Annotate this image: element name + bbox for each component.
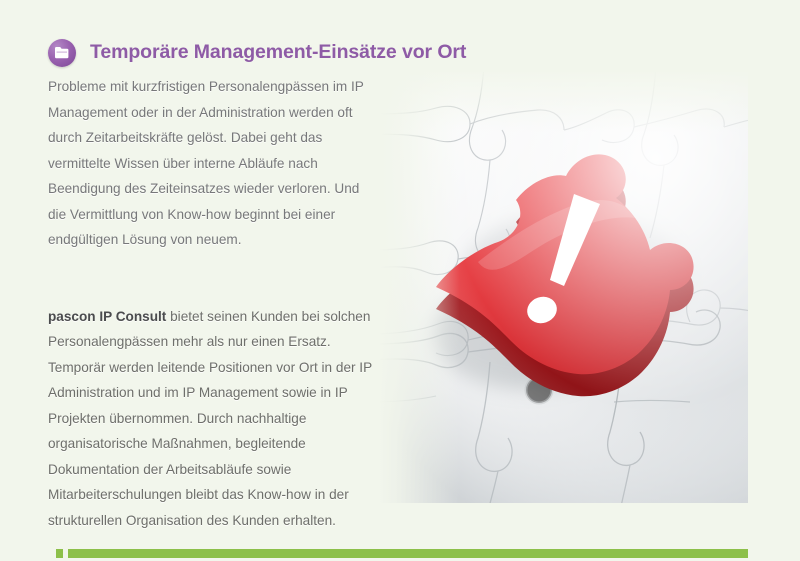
page-root: Temporäre Management-Einsätze vor Ort Pr… (0, 0, 800, 561)
detail-paragraph-lead: pascon IP Consult (48, 309, 166, 324)
content-column: Probleme mit kurzfristigen Personalengpä… (48, 74, 378, 533)
detail-paragraph: pascon IP Consult bietet seinen Kunden b… (48, 304, 378, 534)
intro-paragraph: Probleme mit kurzfristigen Personalengpä… (48, 74, 378, 253)
page-header: Temporäre Management-Einsätze vor Ort (48, 30, 466, 76)
puzzle-graphic (378, 72, 748, 503)
detail-paragraph-rest: bietet seinen Kunden bei solchen Persona… (48, 309, 372, 528)
footer-rule (56, 549, 748, 558)
folder-icon (48, 39, 76, 67)
page-title: Temporäre Management-Einsätze vor Ort (90, 43, 466, 63)
footer-rule-tick (56, 549, 63, 558)
puzzle-illustration (378, 72, 748, 503)
footer-rule-bar (68, 549, 748, 558)
